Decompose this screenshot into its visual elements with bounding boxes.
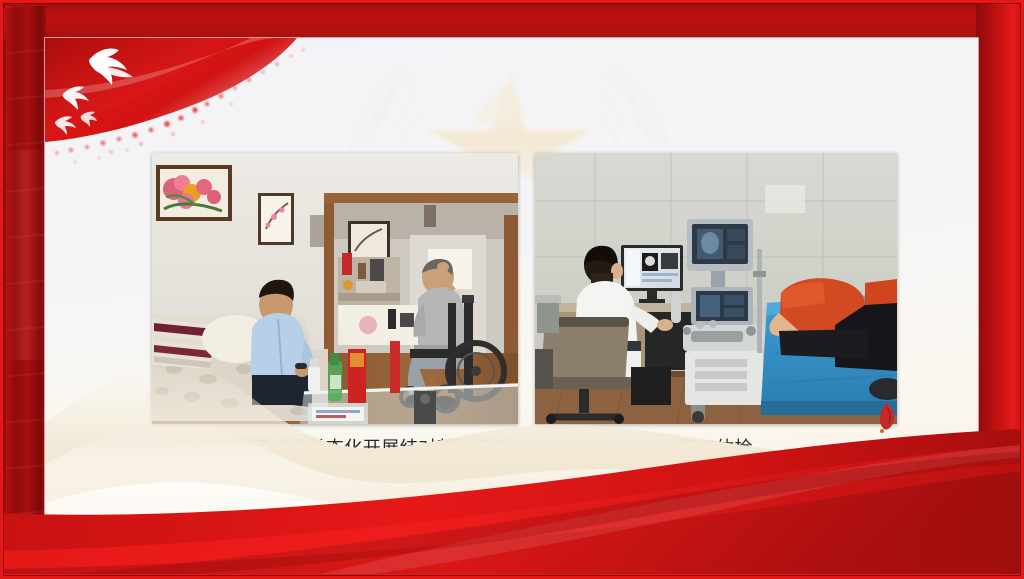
content-card: 公司领导班子成员常态化开展结对帮扶活动 职工体检 — [45, 38, 978, 541]
slide-root: 公司领导班子成员常态化开展结对帮扶活动 职工体检 — [0, 0, 1024, 579]
red-petal-accent — [874, 401, 900, 433]
top-red-band — [0, 0, 1024, 40]
beige-mountain-waves — [45, 331, 978, 541]
left-band-sheen — [6, 150, 46, 360]
right-red-band — [976, 0, 1024, 579]
